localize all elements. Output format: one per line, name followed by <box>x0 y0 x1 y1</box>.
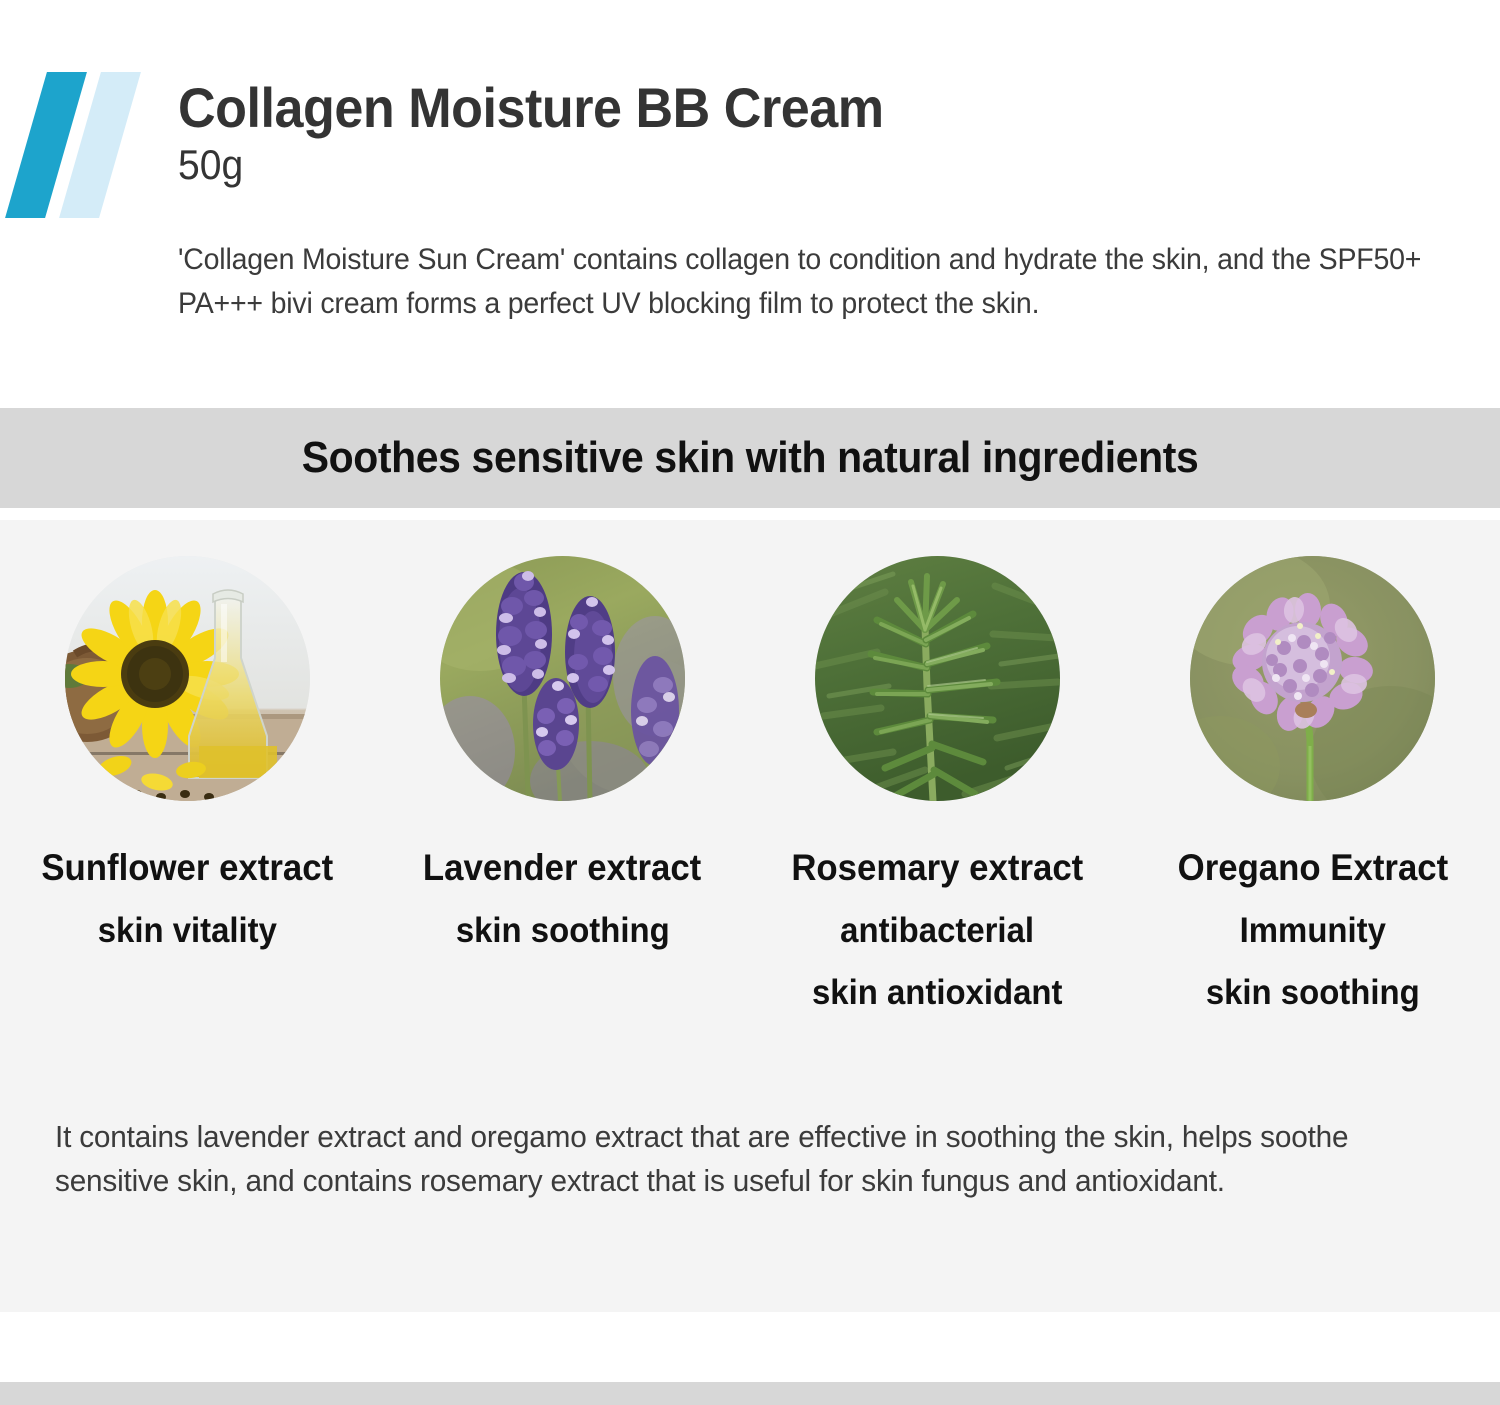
bottom-white-gap <box>0 1312 1500 1382</box>
ingredient-grid: Sunflower extract skin vitality <box>0 556 1500 1010</box>
ingredient-card-rosemary: Rosemary extract antibacterial skin anti… <box>750 556 1125 1010</box>
ingredients-note: It contains lavender extract and oregamo… <box>55 1115 1409 1203</box>
product-description: 'Collagen Moisture Sun Cream' contains c… <box>178 238 1423 326</box>
bottom-gray-band <box>0 1382 1500 1405</box>
ingredient-name: Sunflower extract <box>42 849 334 886</box>
ingredient-name: Rosemary extract <box>792 849 1084 886</box>
ingredient-benefit-line2: skin antioxidant <box>812 975 1062 1010</box>
ingredient-benefit-line2: skin soothing <box>1206 975 1420 1010</box>
ingredient-card-lavender: Lavender extract skin soothing <box>375 556 750 1010</box>
ingredient-benefit: skin soothing <box>456 913 670 948</box>
title-block: Collagen Moisture BB Cream 50g <box>178 78 937 188</box>
ingredient-benefit: antibacterial <box>841 913 1035 948</box>
ingredients-section: Sunflower extract skin vitality <box>0 520 1500 1312</box>
ingredient-name: Lavender extract <box>423 849 701 886</box>
ingredient-card-sunflower: Sunflower extract skin vitality <box>0 556 375 1010</box>
brand-accent-stripes <box>8 72 148 218</box>
section-banner: Soothes sensitive skin with natural ingr… <box>0 408 1500 508</box>
product-header: Collagen Moisture BB Cream 50g 'Collagen… <box>0 0 1500 408</box>
ingredient-benefit: skin vitality <box>98 913 277 948</box>
section-banner-title: Soothes sensitive skin with natural ingr… <box>302 433 1199 483</box>
lavender-flowers-photo <box>440 556 685 801</box>
rosemary-sprig-photo <box>815 556 1060 801</box>
product-size: 50g <box>178 141 884 188</box>
ingredient-card-oregano: Oregano Extract Immunity skin soothing <box>1125 556 1500 1010</box>
oregano-flower-photo <box>1190 556 1435 801</box>
page-title: Collagen Moisture BB Cream <box>178 78 884 137</box>
ingredient-benefit: Immunity <box>1239 913 1385 948</box>
sunflower-oil-photo <box>65 556 310 801</box>
ingredient-name: Oregano Extract <box>1177 849 1448 886</box>
